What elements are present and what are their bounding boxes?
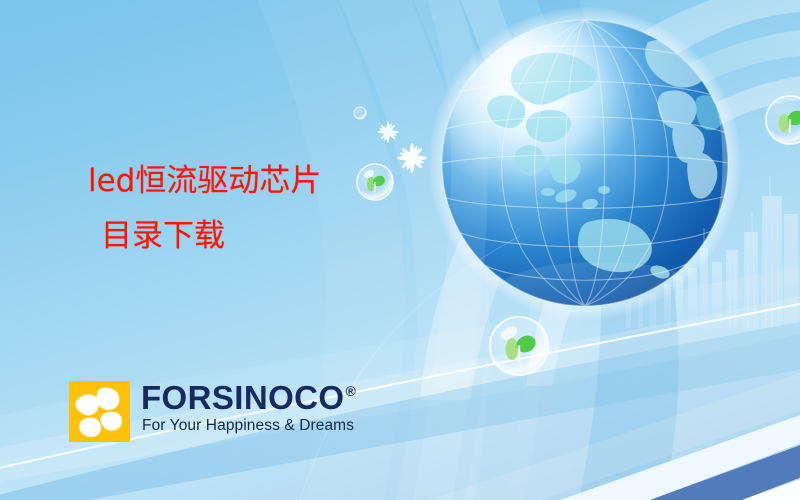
- headline-text: led恒流驱动芯片 目录下载: [88, 166, 508, 252]
- bubble-tiny: [354, 107, 366, 119]
- logo-wordmark: FORSINOCO ®: [141, 381, 356, 415]
- registered-trademark-icon: ®: [345, 384, 356, 398]
- bubble-leaf-lower: [490, 317, 548, 375]
- logo-text-block: FORSINOCO ® For Your Happiness & Dreams: [141, 381, 356, 435]
- headline-line-1: led恒流驱动芯片: [88, 166, 508, 197]
- company-logo[interactable]: FORSINOCO ® For Your Happiness & Dreams: [69, 381, 356, 442]
- four-petal-flower-icon: [69, 381, 130, 442]
- headline-line-2: 目录下载: [101, 221, 508, 252]
- logo-wordmark-text: FORSINOCO: [141, 381, 344, 415]
- logo-tagline: For Your Happiness & Dreams: [142, 417, 356, 435]
- slide-canvas: led恒流驱动芯片 目录下载 FORSINOCO ® For Your Happ…: [0, 0, 800, 500]
